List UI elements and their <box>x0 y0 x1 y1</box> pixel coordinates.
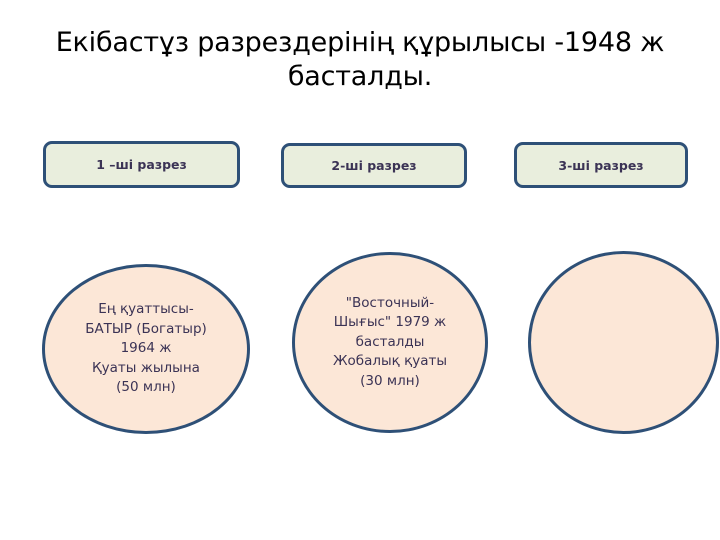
label-box-razrez-1[interactable]: 1 –ші разрез <box>43 141 240 188</box>
label-box-1-text: 1 –ші разрез <box>96 157 187 172</box>
slide-canvas: Екібастұз разрездерінің құрылысы -1948 ж… <box>0 0 720 540</box>
ellipse-razrez-1[interactable]: Ең қуаттысы- БАТЫР (Богатыр) 1964 ж Қуат… <box>42 264 250 434</box>
label-box-razrez-2[interactable]: 2-ші разрез <box>281 143 467 188</box>
ellipse-razrez-2[interactable]: "Восточный- Шығыс" 1979 ж басталды Жобал… <box>292 252 488 433</box>
ellipse-2-text: "Восточный- Шығыс" 1979 ж басталды Жобал… <box>333 294 447 392</box>
label-box-2-text: 2-ші разрез <box>331 158 416 173</box>
label-box-3-text: 3-ші разрез <box>558 158 643 173</box>
label-box-razrez-3[interactable]: 3-ші разрез <box>514 142 688 188</box>
ellipse-1-text: Ең қуаттысы- БАТЫР (Богатыр) 1964 ж Қуат… <box>85 300 207 398</box>
page-title: Екібастұз разрездерінің құрылысы -1948 ж… <box>36 26 684 94</box>
ellipse-razrez-3[interactable] <box>528 251 719 434</box>
